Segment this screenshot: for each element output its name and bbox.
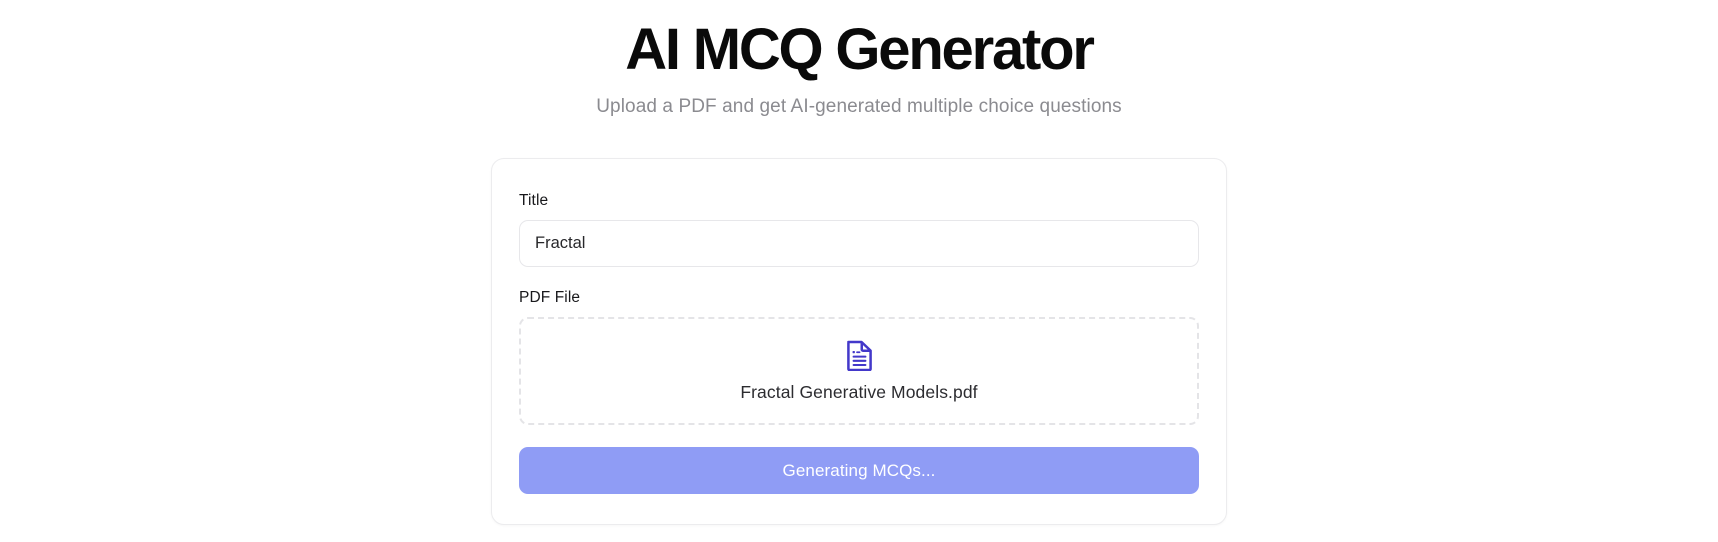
app-root: AI MCQ Generator Upload a PDF and get AI… [0,0,1718,542]
title-input[interactable] [519,220,1199,267]
mcq-generator-card: Title PDF File [491,158,1227,525]
field-divider-spacer [519,267,1199,289]
pdf-field-label: PDF File [519,289,1199,307]
submit-row: Generating MCQs... [519,447,1199,494]
page-subtitle: Upload a PDF and get AI-generated multip… [0,95,1718,120]
page-title: AI MCQ Generator [0,18,1718,82]
page-header: AI MCQ Generator Upload a PDF and get AI… [0,18,1718,119]
pdf-field-group: PDF File Fractal Generative Models.pdf [519,289,1199,425]
pdf-filename-label: Fractal Generative Models.pdf [740,382,977,403]
generate-mcqs-button[interactable]: Generating MCQs... [519,447,1199,494]
title-field-label: Title [519,192,1199,210]
pdf-dropzone[interactable]: Fractal Generative Models.pdf [519,317,1199,425]
title-field-group: Title [519,192,1199,267]
document-text-icon [845,340,874,371]
